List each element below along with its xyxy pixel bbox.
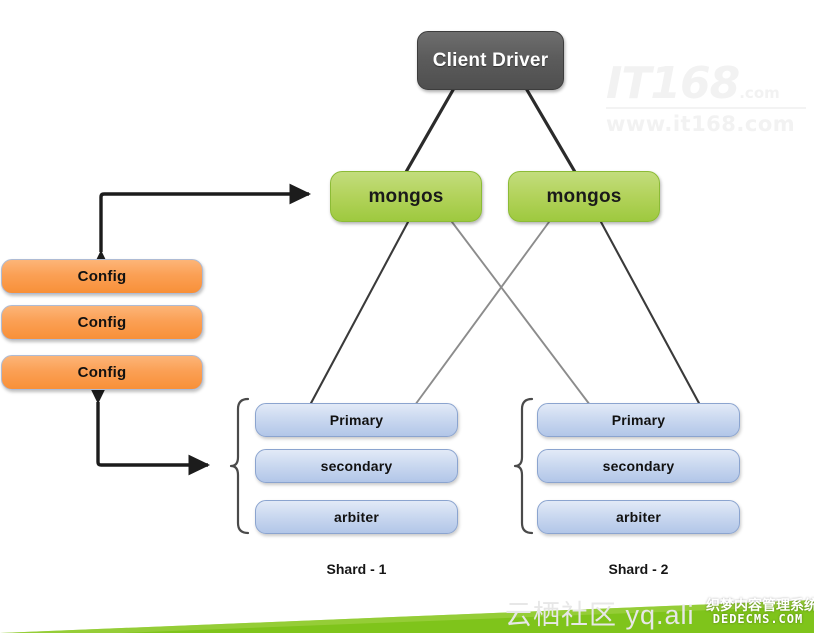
mongos-to-shard-cross-links <box>415 222 590 405</box>
config-server-3[interactable]: Config <box>1 355 203 390</box>
shard-2-brace <box>515 399 532 533</box>
yunqi-watermark: 云栖社区 yq.ali <box>505 593 695 632</box>
shard-1-brace <box>231 399 248 533</box>
shard-2-primary-label: Primary <box>612 412 666 428</box>
shard-1-caption: Shard - 1 <box>255 561 458 577</box>
config-mongos-arrow <box>101 194 309 252</box>
config-shard-arrow <box>98 402 208 465</box>
shard-1-primary[interactable]: Primary <box>255 403 458 437</box>
shard-2-caption-text: Shard - 2 <box>609 561 669 577</box>
shard-2-arbiter-label: arbiter <box>616 509 661 525</box>
shard-1-arbiter-label: arbiter <box>334 509 379 525</box>
shard-2-caption: Shard - 2 <box>537 561 740 577</box>
client-driver-node[interactable]: Client Driver <box>417 31 564 90</box>
client-to-mongos-links <box>406 90 575 172</box>
it168-watermark-logo-text: IT168 <box>606 58 739 109</box>
shard-2-arbiter[interactable]: arbiter <box>537 500 740 534</box>
it168-watermark-rule <box>606 107 806 109</box>
shard-2-primary[interactable]: Primary <box>537 403 740 437</box>
client-driver-label: Client Driver <box>433 50 549 72</box>
shard-2-secondary[interactable]: secondary <box>537 449 740 483</box>
shard-2-secondary-label: secondary <box>603 458 675 474</box>
dedecms-watermark: 织梦内容管理系统 DEDECMS.COM <box>706 598 810 625</box>
shard-1-primary-label: Primary <box>330 412 384 428</box>
dedecms-watermark-en: DEDECMS.COM <box>706 613 810 626</box>
it168-watermark-logo: IT168.com <box>606 62 806 106</box>
config-server-2[interactable]: Config <box>1 305 203 340</box>
dedecms-watermark-cn: 织梦内容管理系统 <box>706 598 810 613</box>
it168-watermark: IT168.com www.it168.com <box>606 62 806 142</box>
mongos-node-2-label: mongos <box>546 186 621 208</box>
shard-1-arbiter[interactable]: arbiter <box>255 500 458 534</box>
it168-watermark-url: www.it168.com <box>606 112 806 136</box>
config-server-1-label: Config <box>78 268 127 285</box>
mongos-to-shard-direct-links <box>310 222 700 405</box>
mongos-node-1-label: mongos <box>368 186 443 208</box>
shard-1-secondary-label: secondary <box>321 458 393 474</box>
shard-1-caption-text: Shard - 1 <box>327 561 387 577</box>
mongos-node-1[interactable]: mongos <box>330 171 482 222</box>
config-server-3-label: Config <box>78 364 127 381</box>
config-server-2-label: Config <box>78 314 127 331</box>
config-server-1[interactable]: Config <box>1 259 203 294</box>
it168-watermark-logo-suffix: .com <box>739 84 780 102</box>
mongos-node-2[interactable]: mongos <box>508 171 660 222</box>
diagram-canvas: Client Driver mongos mongos Config Confi… <box>0 0 814 633</box>
shard-1-secondary[interactable]: secondary <box>255 449 458 483</box>
